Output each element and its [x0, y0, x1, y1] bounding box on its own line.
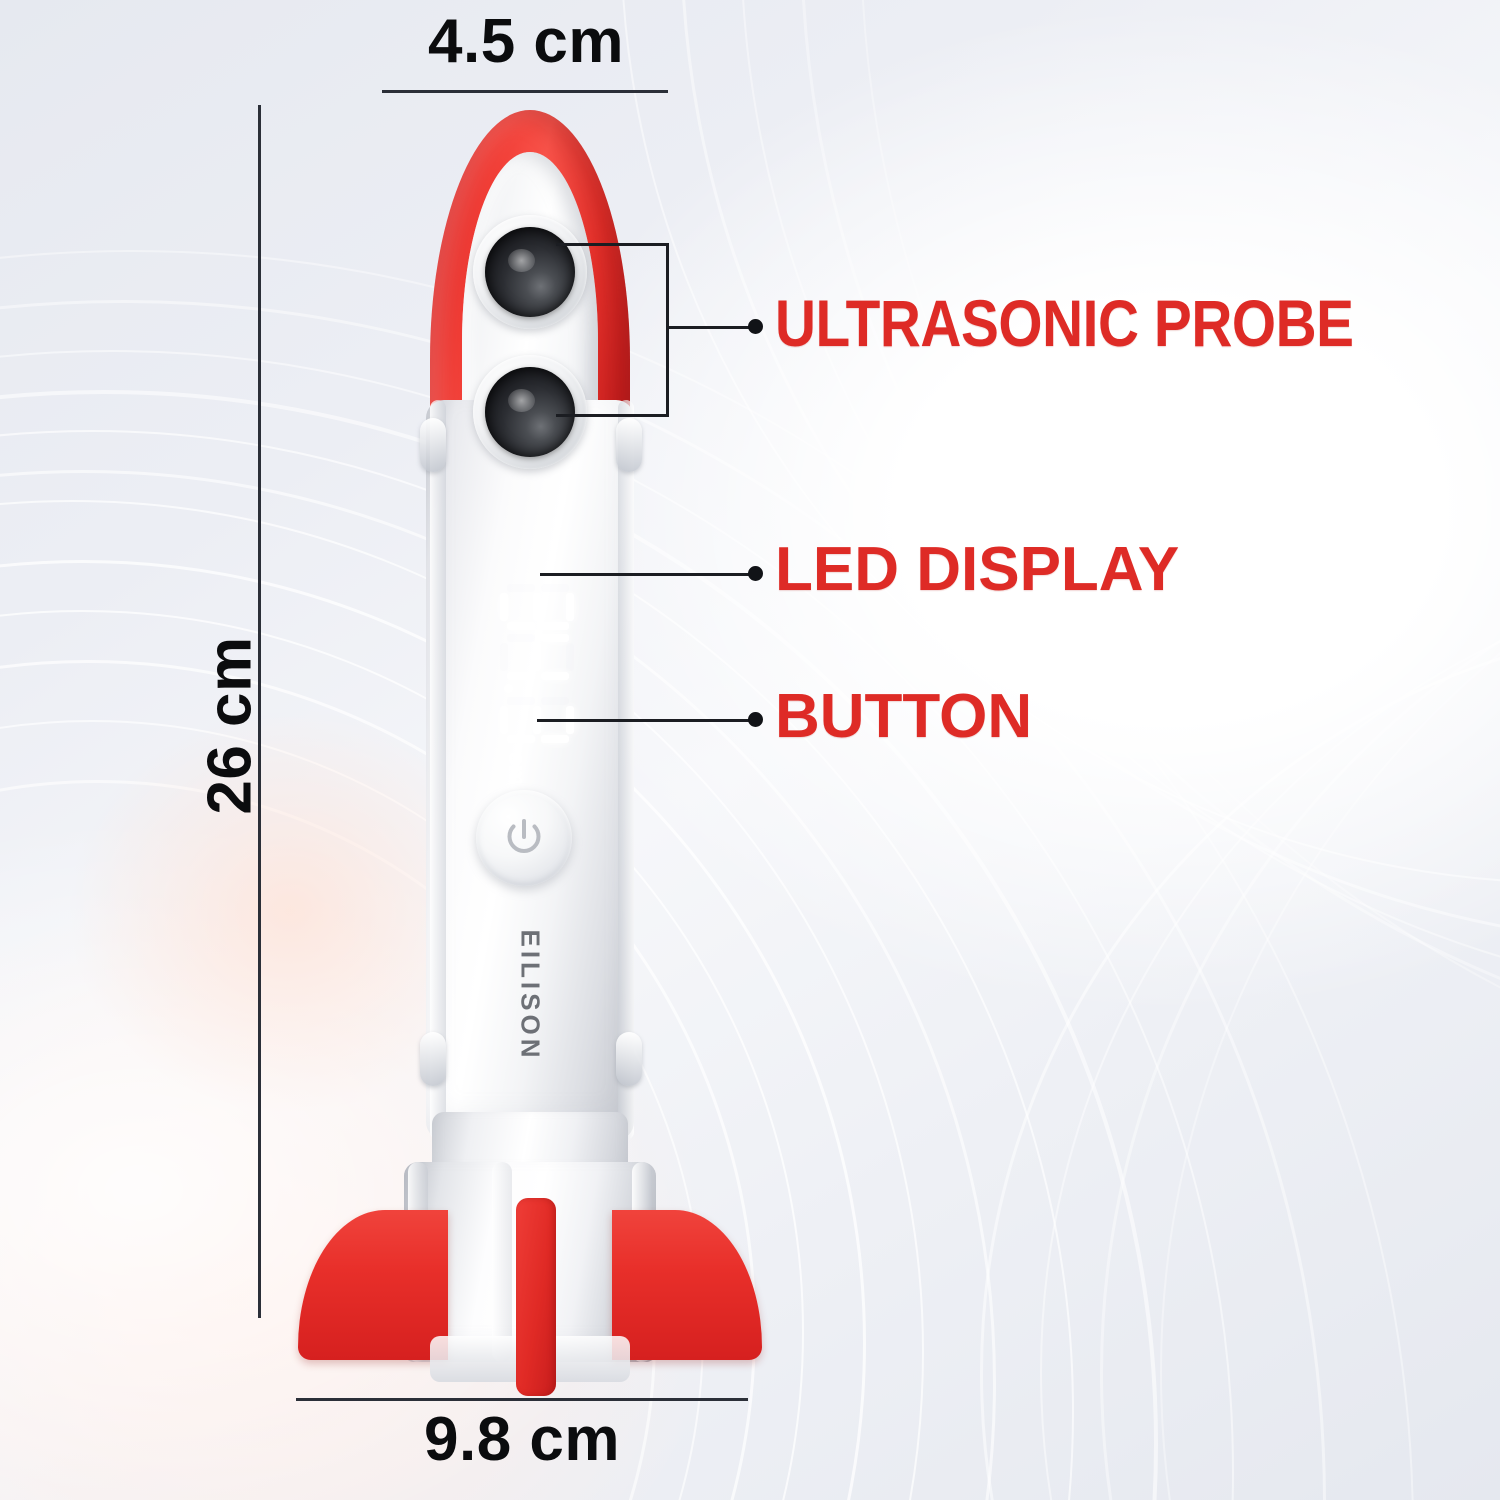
led-unit-label: cm: [504, 752, 528, 787]
body-notch-left-lower: [420, 1032, 446, 1086]
callout-dot-probe: [748, 319, 763, 334]
dimension-label-height: 26 cm: [195, 606, 266, 846]
led-display-panel: cm: [430, 570, 630, 800]
led-decimal-point: [504, 684, 513, 693]
callout-bracket-probes: [556, 243, 669, 417]
product-illustration: cm EILISON: [280, 100, 780, 1390]
dimension-label-width-base: 9.8 cm: [424, 1404, 620, 1475]
rocket-fin-left: [298, 1210, 448, 1360]
brand-logo-text: EILISON: [515, 921, 546, 1071]
callout-label-led-display: LED DISPLAY: [775, 534, 1179, 605]
callout-leader-led-display: [540, 573, 752, 576]
led-digit-1: [500, 584, 574, 630]
callout-label-button: BUTTON: [775, 681, 1032, 752]
power-button[interactable]: [476, 790, 572, 886]
dimension-line-top: [382, 90, 668, 93]
callout-label-ultrasonic-probe: ULTRASONIC PROBE: [775, 285, 1354, 361]
rocket-fin-right: [612, 1210, 762, 1360]
body-notch-right-lower: [616, 1032, 642, 1086]
led-digits-group: cm: [500, 570, 560, 800]
body-notch-right-upper: [616, 418, 642, 472]
center-red-strip: [516, 1198, 556, 1396]
callout-dot-button: [748, 712, 763, 727]
engine-rib-center-left: [492, 1162, 512, 1362]
callout-leader-probe: [666, 326, 752, 329]
body-notch-left-upper: [420, 418, 446, 472]
infographic-canvas: 4.5 cm 26 cm 9.8 cm: [0, 0, 1500, 1500]
led-digit-2: [500, 634, 574, 680]
dimension-label-width-top: 4.5 cm: [428, 6, 624, 77]
callout-dot-led-display: [748, 566, 763, 581]
dimension-line-bottom: [296, 1398, 748, 1401]
power-icon: [498, 812, 550, 864]
callout-leader-button: [537, 719, 752, 722]
